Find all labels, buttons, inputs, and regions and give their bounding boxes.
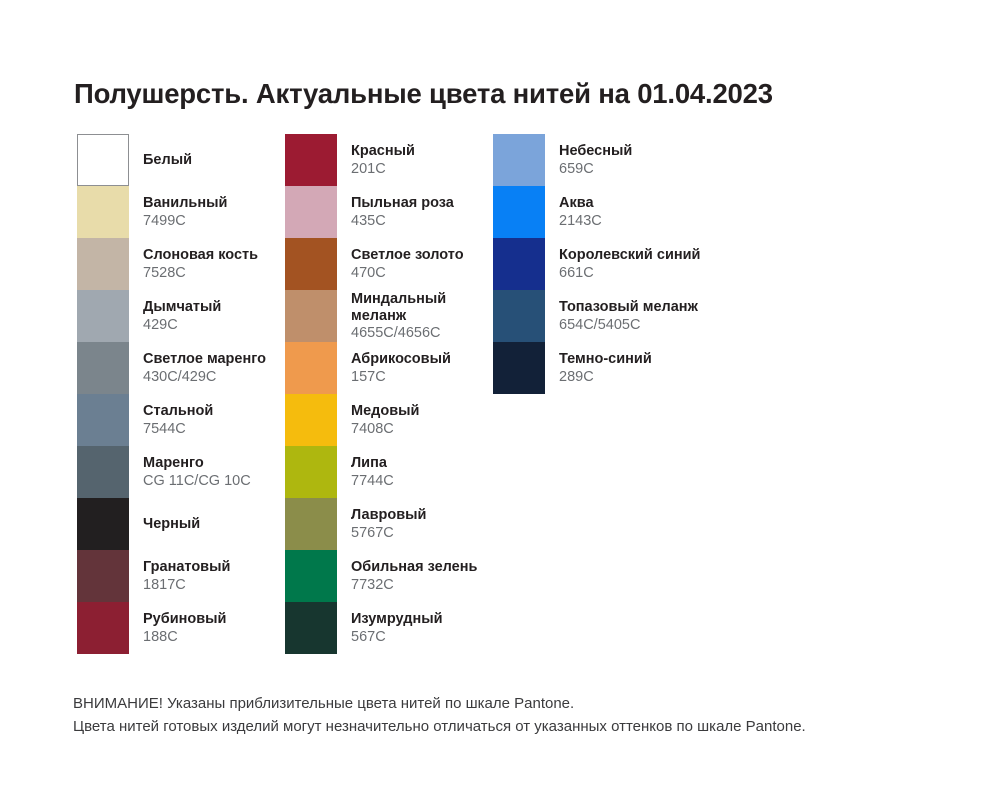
color-swatch-pantone-code: 4655C/4656C: [351, 325, 486, 342]
color-swatch-name: Изумрудный: [351, 611, 443, 628]
color-swatch-pantone-code: 7732C: [351, 577, 477, 594]
color-swatch-row[interactable]: Королевский синий661C: [493, 238, 701, 290]
color-swatch-row[interactable]: Небесный659C: [493, 134, 701, 186]
color-swatch-name: Ванильный: [143, 195, 227, 212]
disclaimer-line-1: ВНИМАНИЕ! Указаны приблизительные цвета …: [73, 692, 806, 715]
color-swatch-row[interactable]: Белый: [77, 134, 285, 186]
color-swatch-chip[interactable]: [493, 238, 545, 290]
color-swatch-text: Изумрудный567C: [337, 602, 443, 654]
color-swatch-pantone-code: 289C: [559, 369, 652, 386]
color-swatch-chip[interactable]: [285, 134, 337, 186]
color-swatch-pantone-code: 430C/429C: [143, 369, 266, 386]
color-swatch-text: Черный: [129, 498, 200, 550]
color-swatch-name: Топазовый меланж: [559, 299, 698, 316]
color-swatch-name: Обильная зелень: [351, 559, 477, 576]
color-swatch-text: Лавровый5767C: [337, 498, 426, 550]
color-swatch-row[interactable]: Медовый7408C: [285, 394, 493, 446]
color-swatch-row[interactable]: Черный: [77, 498, 285, 550]
color-swatch-text: Обильная зелень7732C: [337, 550, 477, 602]
color-swatch-text: Стальной7544C: [129, 394, 213, 446]
color-swatch-text: Миндальный меланж4655C/4656C: [337, 290, 486, 342]
color-swatch-pantone-code: 2143C: [559, 213, 602, 230]
color-swatch-chip[interactable]: [285, 186, 337, 238]
color-swatch-chip[interactable]: [493, 342, 545, 394]
color-swatch-name: Липа: [351, 455, 394, 472]
color-swatch-name: Маренго: [143, 455, 251, 472]
color-swatch-text: Красный201C: [337, 134, 415, 186]
color-swatch-text: Слоновая кость7528C: [129, 238, 258, 290]
color-swatch-row[interactable]: Лавровый5767C: [285, 498, 493, 550]
color-swatch-row[interactable]: Аква2143C: [493, 186, 701, 238]
color-swatch-text: Гранатовый1817C: [129, 550, 230, 602]
color-swatch-chip[interactable]: [285, 602, 337, 654]
color-swatch-name: Королевский синий: [559, 247, 700, 264]
color-swatch-row[interactable]: Ванильный7499C: [77, 186, 285, 238]
color-swatch-name: Красный: [351, 143, 415, 160]
color-swatch-name: Небесный: [559, 143, 632, 160]
color-swatch-pantone-code: 659C: [559, 161, 632, 178]
color-swatch-name: Темно-синий: [559, 351, 652, 368]
color-swatch-name: Миндальный меланж: [351, 291, 486, 325]
color-swatch-chip[interactable]: [285, 550, 337, 602]
color-swatch-row[interactable]: Пыльная роза435C: [285, 186, 493, 238]
color-swatch-row[interactable]: Рубиновый188C: [77, 602, 285, 654]
color-swatch-chip[interactable]: [77, 342, 129, 394]
color-swatch-row[interactable]: Дымчатый429C: [77, 290, 285, 342]
color-swatch-pantone-code: 567C: [351, 629, 443, 646]
color-swatch-pantone-code: 7544C: [143, 421, 213, 438]
color-swatch-chip[interactable]: [77, 498, 129, 550]
color-swatch-name: Аква: [559, 195, 602, 212]
color-swatch-row[interactable]: Светлое золото470C: [285, 238, 493, 290]
color-swatch-pantone-code: 654C/5405C: [559, 317, 698, 334]
color-swatch-text: Светлое золото470C: [337, 238, 464, 290]
color-swatch-text: МаренгоCG 11C/CG 10C: [129, 446, 251, 498]
color-swatch-text: Небесный659C: [545, 134, 632, 186]
color-swatch-chip[interactable]: [77, 186, 129, 238]
color-swatch-name: Рубиновый: [143, 611, 226, 628]
thread-color-palette-page: { "title": "Полушерсть. Актуальные цвета…: [0, 0, 1000, 801]
color-swatch-pantone-code: 7744C: [351, 473, 394, 490]
color-swatch-name: Слоновая кость: [143, 247, 258, 264]
color-swatch-chip[interactable]: [285, 238, 337, 290]
color-swatch-chip[interactable]: [77, 550, 129, 602]
color-swatch-text: Светлое маренго430C/429C: [129, 342, 266, 394]
color-swatch-pantone-code: 157C: [351, 369, 451, 386]
color-swatch-pantone-code: 7499C: [143, 213, 227, 230]
color-swatch-pantone-code: 1817C: [143, 577, 230, 594]
color-swatch-name: Гранатовый: [143, 559, 230, 576]
color-swatch-chip[interactable]: [285, 446, 337, 498]
color-swatch-row[interactable]: Стальной7544C: [77, 394, 285, 446]
color-swatch-name: Лавровый: [351, 507, 426, 524]
color-swatch-pantone-code: 661C: [559, 265, 700, 282]
color-swatch-chip[interactable]: [285, 290, 337, 342]
disclaimer-line-2: Цвета нитей готовых изделий могут незнач…: [73, 715, 806, 738]
color-swatch-row[interactable]: Темно-синий289C: [493, 342, 701, 394]
color-swatch-name: Светлое маренго: [143, 351, 266, 368]
color-swatch-name: Медовый: [351, 403, 419, 420]
color-swatch-name: Абрикосовый: [351, 351, 451, 368]
color-swatch-pantone-code: 201C: [351, 161, 415, 178]
color-swatch-pantone-code: 470C: [351, 265, 464, 282]
color-palette-grid: БелыйВанильный7499CСлоновая кость7528CДы…: [77, 134, 937, 654]
color-swatch-name: Светлое золото: [351, 247, 464, 264]
color-swatch-row[interactable]: Абрикосовый157C: [285, 342, 493, 394]
color-swatch-text: Топазовый меланж654C/5405C: [545, 290, 698, 342]
color-swatch-text: Белый: [129, 134, 192, 186]
color-swatch-chip[interactable]: [285, 394, 337, 446]
page-title: Полушерсть. Актуальные цвета нитей на 01…: [74, 78, 773, 110]
color-swatch-chip[interactable]: [285, 342, 337, 394]
color-swatch-pantone-code: 5767C: [351, 525, 426, 542]
color-swatch-chip[interactable]: [493, 290, 545, 342]
color-swatch-row[interactable]: Обильная зелень7732C: [285, 550, 493, 602]
column-blues: Небесный659CАква2143CКоролевский синий66…: [493, 134, 701, 654]
color-swatch-text: Пыльная роза435C: [337, 186, 454, 238]
color-swatch-row[interactable]: Гранатовый1817C: [77, 550, 285, 602]
color-swatch-chip[interactable]: [77, 394, 129, 446]
column-neutrals: БелыйВанильный7499CСлоновая кость7528CДы…: [77, 134, 285, 654]
color-swatch-name: Дымчатый: [143, 299, 221, 316]
color-swatch-pantone-code: CG 11C/CG 10C: [143, 473, 251, 490]
color-swatch-chip[interactable]: [493, 134, 545, 186]
disclaimer-note: ВНИМАНИЕ! Указаны приблизительные цвета …: [73, 692, 806, 739]
color-swatch-row[interactable]: Светлое маренго430C/429C: [77, 342, 285, 394]
color-swatch-row[interactable]: Топазовый меланж654C/5405C: [493, 290, 701, 342]
color-swatch-text: Медовый7408C: [337, 394, 419, 446]
color-swatch-row[interactable]: Миндальный меланж4655C/4656C: [285, 290, 493, 342]
color-swatch-chip[interactable]: [285, 498, 337, 550]
color-swatch-pantone-code: 188C: [143, 629, 226, 646]
color-swatch-name: Черный: [143, 516, 200, 533]
color-swatch-chip[interactable]: [77, 290, 129, 342]
color-swatch-text: Темно-синий289C: [545, 342, 652, 394]
color-swatch-row[interactable]: Слоновая кость7528C: [77, 238, 285, 290]
color-swatch-row[interactable]: МаренгоCG 11C/CG 10C: [77, 446, 285, 498]
color-swatch-chip[interactable]: [77, 446, 129, 498]
color-swatch-text: Королевский синий661C: [545, 238, 700, 290]
color-swatch-text: Липа7744C: [337, 446, 394, 498]
color-swatch-chip[interactable]: [77, 134, 129, 186]
color-swatch-text: Аква2143C: [545, 186, 602, 238]
color-swatch-name: Пыльная роза: [351, 195, 454, 212]
column-warm: Красный201CПыльная роза435CСветлое золот…: [285, 134, 493, 654]
color-swatch-pantone-code: 7408C: [351, 421, 419, 438]
color-swatch-row[interactable]: Красный201C: [285, 134, 493, 186]
color-swatch-text: Дымчатый429C: [129, 290, 221, 342]
color-swatch-row[interactable]: Липа7744C: [285, 446, 493, 498]
color-swatch-chip[interactable]: [77, 238, 129, 290]
color-swatch-name: Белый: [143, 152, 192, 169]
color-swatch-pantone-code: 429C: [143, 317, 221, 334]
color-swatch-chip[interactable]: [493, 186, 545, 238]
color-swatch-text: Ванильный7499C: [129, 186, 227, 238]
color-swatch-name: Стальной: [143, 403, 213, 420]
color-swatch-text: Абрикосовый157C: [337, 342, 451, 394]
color-swatch-chip[interactable]: [77, 602, 129, 654]
color-swatch-text: Рубиновый188C: [129, 602, 226, 654]
color-swatch-pantone-code: 435C: [351, 213, 454, 230]
color-swatch-row[interactable]: Изумрудный567C: [285, 602, 493, 654]
color-swatch-pantone-code: 7528C: [143, 265, 258, 282]
